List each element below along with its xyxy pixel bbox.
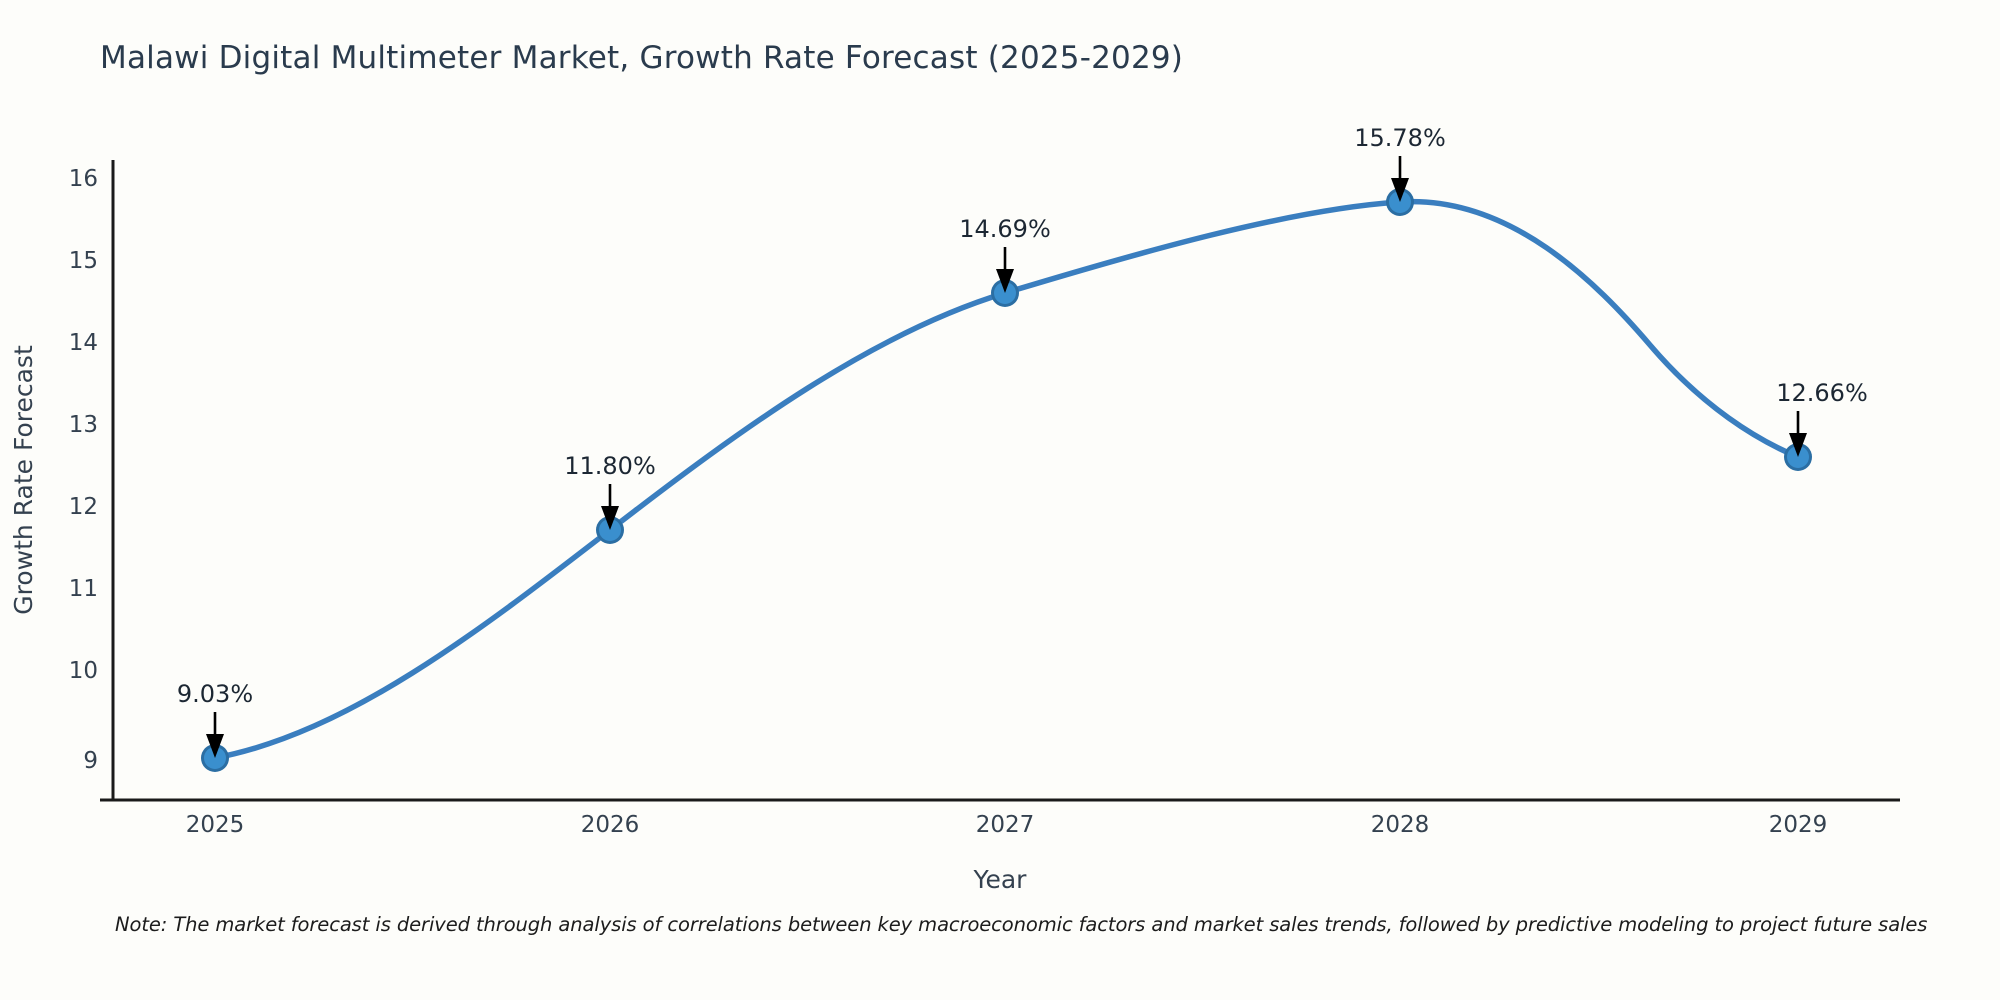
data-point-label: 9.03%	[177, 680, 253, 708]
y-tick-label: 13	[69, 412, 98, 438]
data-point-label: 14.69%	[959, 215, 1051, 243]
x-tick-label: 2029	[1769, 812, 1828, 838]
chart-footnote: Note: The market forecast is derived thr…	[115, 913, 1927, 936]
chart-canvas: Malawi Digital Multimeter Market, Growth…	[0, 0, 2000, 1000]
x-axis-title: Year	[973, 865, 1028, 894]
y-tick-label: 16	[69, 166, 98, 192]
data-point-label: 15.78%	[1354, 124, 1446, 152]
y-tick-label: 12	[69, 494, 98, 520]
y-tick-label: 15	[69, 248, 98, 274]
y-tick-label: 10	[69, 658, 98, 684]
y-tick-label: 14	[69, 330, 98, 356]
line-chart-svg: 16 15 14 13 12 11 10 9 2025 2026 2027 20…	[0, 0, 2000, 1000]
data-point-label: 12.66%	[1776, 379, 1868, 407]
y-tick-label: 11	[69, 576, 98, 602]
x-tick-label: 2028	[1371, 812, 1430, 838]
data-point-label: 11.80%	[564, 452, 656, 480]
x-tick-label: 2026	[581, 812, 640, 838]
y-tick-label: 9	[83, 748, 98, 774]
x-tick-label: 2027	[976, 812, 1035, 838]
y-axis-title: Growth Rate Forecast	[9, 345, 38, 615]
x-tick-label: 2025	[186, 812, 245, 838]
